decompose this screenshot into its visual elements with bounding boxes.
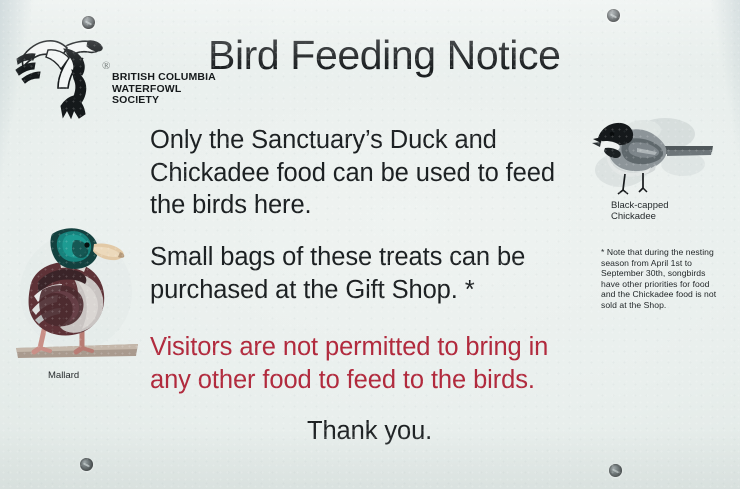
organization-logo-block: ® BRITISH COLUMBIA WATERFOWL SOCIETY xyxy=(14,22,204,122)
organization-name-line1: BRITISH COLUMBIA xyxy=(112,71,216,83)
notice-paragraph-1: Only the Sanctuary’s Duck and Chickadee … xyxy=(150,124,590,222)
screw-top-left xyxy=(82,16,95,29)
mallard-caption: Mallard xyxy=(48,370,128,381)
screw-bottom-left xyxy=(80,458,93,471)
black-capped-chickadee-illustration xyxy=(585,112,717,200)
flying-goose-icon xyxy=(14,22,106,120)
closing-text: Thank you. xyxy=(307,415,432,447)
warning-text: Visitors are not permitted to bring in a… xyxy=(150,331,580,396)
chickadee-figure: Black-capped Chickadee xyxy=(585,112,725,232)
mallard-duck-illustration xyxy=(8,222,144,367)
chickadee-caption-line1: Black-capped xyxy=(611,200,669,211)
chickadee-caption-line2: Chickadee xyxy=(611,211,719,222)
chickadee-caption: Black-capped Chickadee xyxy=(611,200,719,222)
page-title: Bird Feeding Notice xyxy=(208,32,560,78)
bird-feeding-notice-sign: ® BRITISH COLUMBIA WATERFOWL SOCIETY Bir… xyxy=(0,0,740,489)
organization-name-line2: WATERFOWL SOCIETY xyxy=(112,84,217,107)
screw-top-right xyxy=(607,9,620,22)
notice-paragraph-2: Small bags of these treats can be purcha… xyxy=(150,241,580,306)
mallard-figure: Mallard xyxy=(8,222,148,387)
footnote-text: * Note that during the nesting season fr… xyxy=(601,247,725,311)
screw-bottom-right xyxy=(609,464,622,477)
organization-name: BRITISH COLUMBIA WATERFOWL SOCIETY xyxy=(112,72,217,107)
registered-trademark-icon: ® xyxy=(102,60,110,72)
